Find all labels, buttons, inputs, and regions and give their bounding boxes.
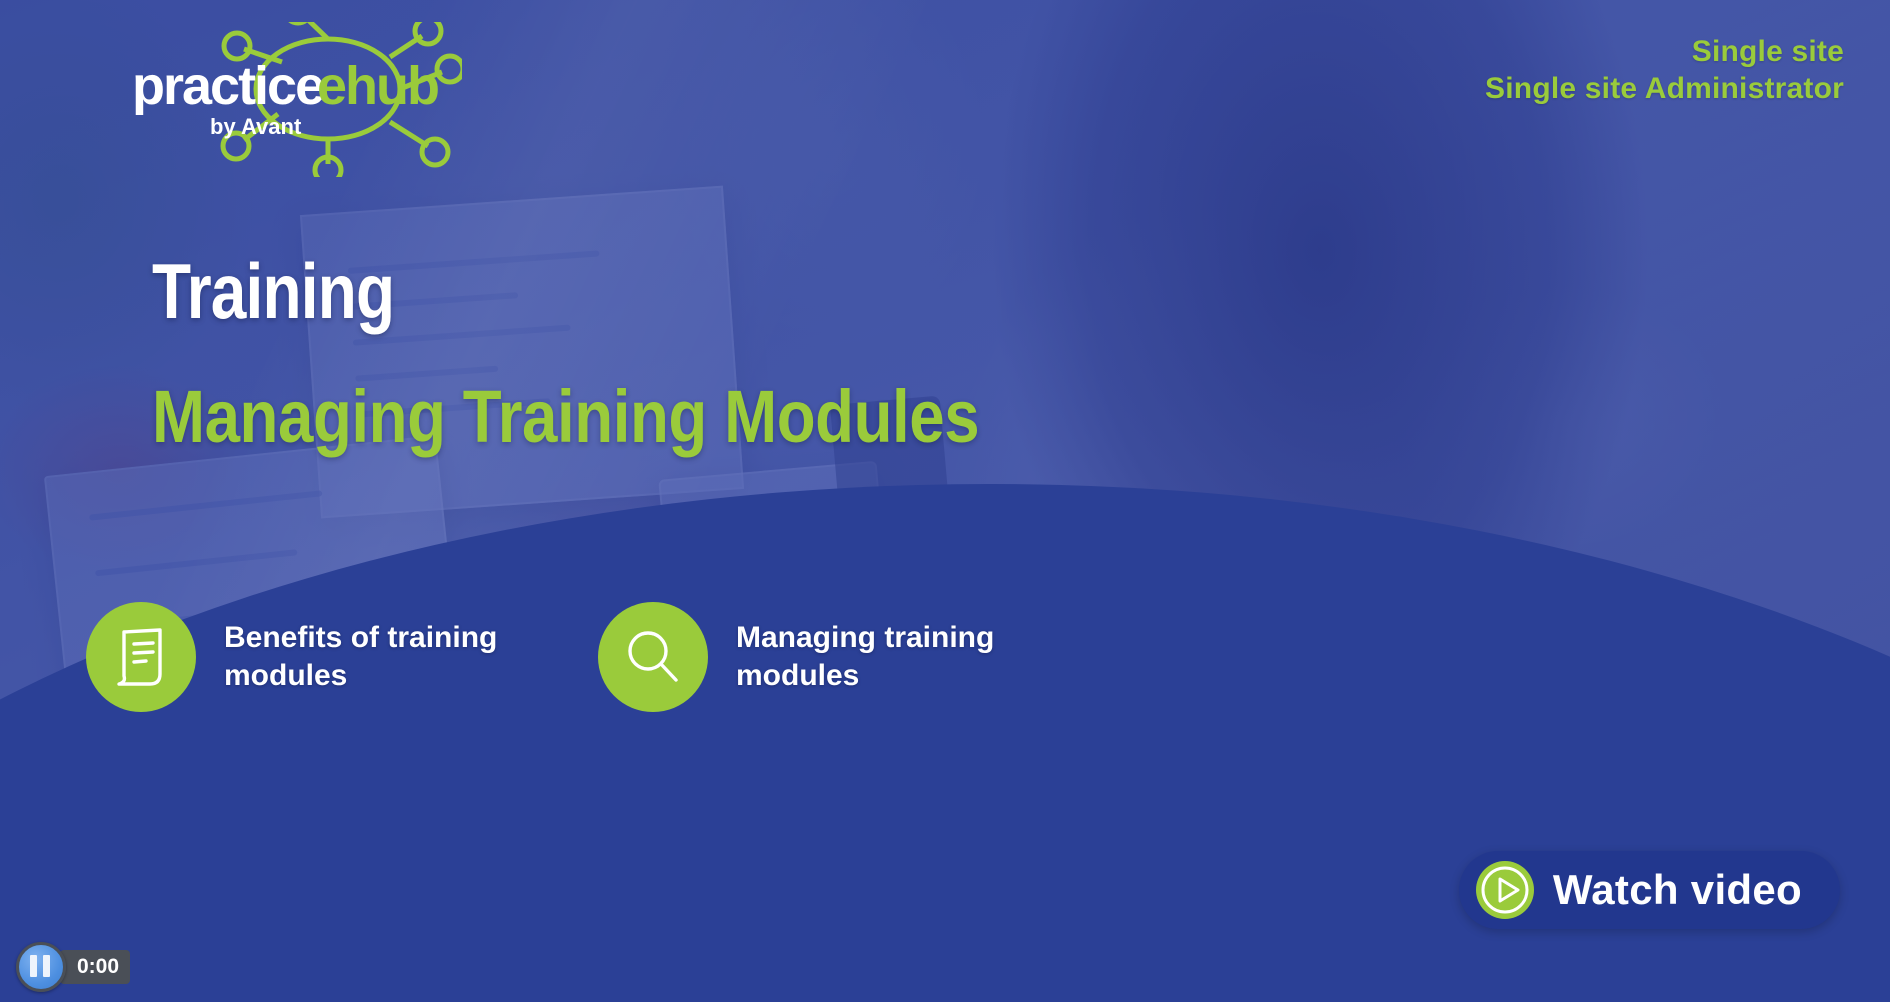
- playback-time: 0:00: [60, 950, 130, 984]
- page-eyebrow: Training: [152, 252, 394, 330]
- watch-video-label: Watch video: [1553, 866, 1802, 914]
- magnifier-glyph: [622, 626, 684, 688]
- page-title: Managing Training Modules: [152, 380, 979, 454]
- topic-item-managing[interactable]: Managing training modules: [598, 602, 1036, 712]
- practicehub-logo[interactable]: practice ehub by Avant: [132, 22, 462, 177]
- role-site-line: Single site: [1485, 34, 1844, 71]
- logo-wordmark-practice: practice: [132, 56, 324, 116]
- topic-list: Benefits of training modules Managing tr…: [86, 602, 1036, 712]
- magnifier-icon: [598, 602, 708, 712]
- video-player-controls: 0:00: [16, 942, 130, 992]
- logo-wordmark-ehub: ehub: [317, 56, 438, 116]
- pause-icon[interactable]: [16, 942, 66, 992]
- play-circle-icon: [1475, 860, 1535, 920]
- logo-tagline: by Avant: [210, 114, 302, 139]
- logo-artwork: practice ehub by Avant: [132, 22, 462, 177]
- topic-label-managing: Managing training modules: [736, 619, 1036, 696]
- document-glyph: [110, 624, 172, 690]
- role-block: Single site Single site Administrator: [1485, 34, 1844, 107]
- document-icon: [86, 602, 196, 712]
- watch-video-button[interactable]: Watch video: [1459, 851, 1840, 929]
- topic-label-benefits: Benefits of training modules: [224, 619, 524, 696]
- role-user-line: Single site Administrator: [1485, 71, 1844, 108]
- topic-item-benefits[interactable]: Benefits of training modules: [86, 602, 524, 712]
- slide-canvas: practice ehub by Avant Single site Singl…: [0, 0, 1890, 1002]
